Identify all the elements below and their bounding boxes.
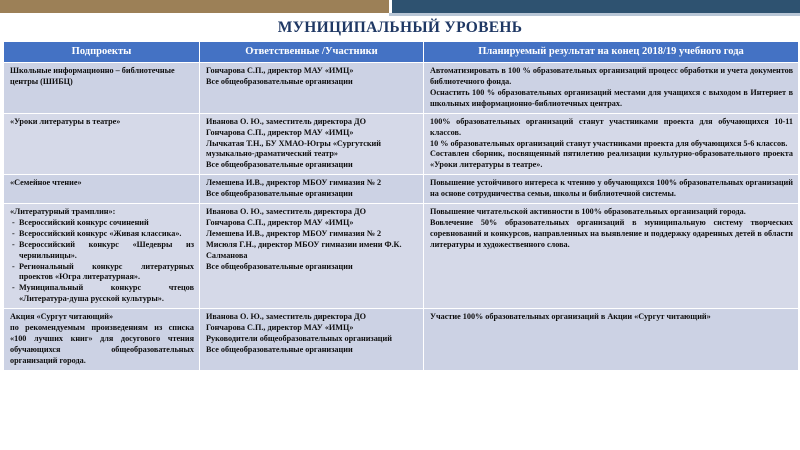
responsible-line: Иванова О. Ю., заместитель директора ДО — [206, 207, 418, 218]
result-line: Вовлечение 50% образовательных организац… — [430, 218, 793, 251]
table-row: Школьные информационно – библиотечные це… — [4, 63, 799, 114]
subproject-title: «Уроки литературы в театре» — [10, 117, 194, 128]
cell-result: Участие 100% образовательных организаций… — [424, 309, 799, 371]
responsible-line: Гончарова С.П., директор МАУ «ИМЦ» — [206, 66, 418, 77]
responsible-line: Все общеобразовательные организации — [206, 77, 418, 88]
cell-subproject: «Семейное чтение» — [4, 175, 200, 204]
responsible-line: Гончарова С.П., директор МАУ «ИМЦ» — [206, 128, 418, 139]
responsible-line: Лемешева И.В., директор МБОУ гимназия № … — [206, 178, 418, 189]
subproject-title: «Литературный трамплин»: — [10, 207, 194, 218]
responsible-line: Все общеобразовательные организации — [206, 160, 418, 171]
subproject-title: Акция «Сургут читающий» — [10, 312, 194, 323]
result-line: 10 % образовательных организаций станут … — [430, 139, 793, 150]
list-item: Муниципальный конкурс чтецов «Литература… — [10, 283, 194, 305]
top-bar-underline — [389, 13, 800, 16]
page-title: МУНИЦИПАЛЬНЫЙ УРОВЕНЬ — [0, 19, 800, 37]
cell-responsible: Лемешева И.В., директор МБОУ гимназия № … — [200, 175, 424, 204]
cell-subproject: «Литературный трамплин»:Всероссийский ко… — [4, 204, 200, 309]
cell-result: 100% образовательных организаций станут … — [424, 113, 799, 175]
subproject-bullet-list: Всероссийский конкурс сочиненийВсероссий… — [10, 218, 194, 305]
cell-responsible: Иванова О. Ю., заместитель директора ДОГ… — [200, 309, 424, 371]
table-row: «Уроки литературы в театре»Иванова О. Ю.… — [4, 113, 799, 175]
responsible-line: Гончарова С.П., директор МАУ «ИМЦ» — [206, 323, 418, 334]
responsible-line: Мисюля Г.Н., директор МБОУ гимназии имен… — [206, 240, 418, 262]
table-header-row: Подпроекты Ответственные /Участники План… — [4, 42, 799, 63]
responsible-line: Иванова О. Ю., заместитель директора ДО — [206, 117, 418, 128]
subproject-title: Школьные информационно – библиотечные це… — [10, 66, 194, 88]
table-row: «Литературный трамплин»:Всероссийский ко… — [4, 204, 799, 309]
table-row: Акция «Сургут читающий»по рекомендуемым … — [4, 309, 799, 371]
responsible-line: Все общеобразовательные организации — [206, 262, 418, 273]
cell-result: Повышение читательской активности в 100%… — [424, 204, 799, 309]
cell-responsible: Гончарова С.П., директор МАУ «ИМЦ»Все об… — [200, 63, 424, 114]
result-line: Повышение читательской активности в 100%… — [430, 207, 793, 218]
responsible-line: Иванова О. Ю., заместитель директора ДО — [206, 312, 418, 323]
result-line: Составлен сборник, посвященный пятилетию… — [430, 149, 793, 171]
cell-result: Повышение устойчивого интереса к чтению … — [424, 175, 799, 204]
cell-subproject: Школьные информационно – библиотечные це… — [4, 63, 200, 114]
cell-responsible: Иванова О. Ю., заместитель директора ДОГ… — [200, 113, 424, 175]
responsible-line: Лемешева И.В., директор МБОУ гимназия № … — [206, 229, 418, 240]
list-item: Всероссийский конкурс «Живая классика». — [10, 229, 194, 240]
list-item: Региональный конкурс литературных проект… — [10, 262, 194, 284]
decorative-top-bar — [0, 0, 800, 13]
column-header-responsible: Ответственные /Участники — [200, 42, 424, 63]
responsible-line: Лычкатая Т.Н., БУ ХМАО-Югры «Сургутский … — [206, 139, 418, 161]
cell-subproject: Акция «Сургут читающий»по рекомендуемым … — [4, 309, 200, 371]
top-bar-blue-segment — [392, 0, 800, 13]
cell-result: Автоматизировать в 100 % образовательных… — [424, 63, 799, 114]
cell-responsible: Иванова О. Ю., заместитель директора ДОГ… — [200, 204, 424, 309]
column-header-subprojects: Подпроекты — [4, 42, 200, 63]
top-bar-gold-segment — [0, 0, 389, 13]
list-item: Всероссийский конкурс сочинений — [10, 218, 194, 229]
table-row: «Семейное чтение»Лемешева И.В., директор… — [4, 175, 799, 204]
result-line: Участие 100% образовательных организаций… — [430, 312, 793, 323]
list-item: Всероссийский конкурс «Шедевры из чернил… — [10, 240, 194, 262]
subproject-title: «Семейное чтение» — [10, 178, 194, 189]
responsible-line: Все общеобразовательные организации — [206, 189, 418, 200]
subproject-note: по рекомендуемым произведениям из списка… — [10, 323, 194, 367]
table-body: Школьные информационно – библиотечные це… — [4, 63, 799, 371]
responsible-line: Гончарова С.П., директор МАУ «ИМЦ» — [206, 218, 418, 229]
slide-canvas: МУНИЦИПАЛЬНЫЙ УРОВЕНЬ Подпроекты Ответст… — [0, 0, 800, 450]
responsible-line: Все общеобразовательные организации — [206, 345, 418, 356]
municipal-level-table: Подпроекты Ответственные /Участники План… — [3, 41, 799, 371]
result-line: Повышение устойчивого интереса к чтению … — [430, 178, 793, 200]
responsible-line: Руководители общеобразовательных организ… — [206, 334, 418, 345]
result-line: Оснастить 100 % образовательных организа… — [430, 88, 793, 110]
cell-subproject: «Уроки литературы в театре» — [4, 113, 200, 175]
result-line: 100% образовательных организаций станут … — [430, 117, 793, 139]
column-header-result: Планируемый результат на конец 2018/19 у… — [424, 42, 799, 63]
result-line: Автоматизировать в 100 % образовательных… — [430, 66, 793, 88]
